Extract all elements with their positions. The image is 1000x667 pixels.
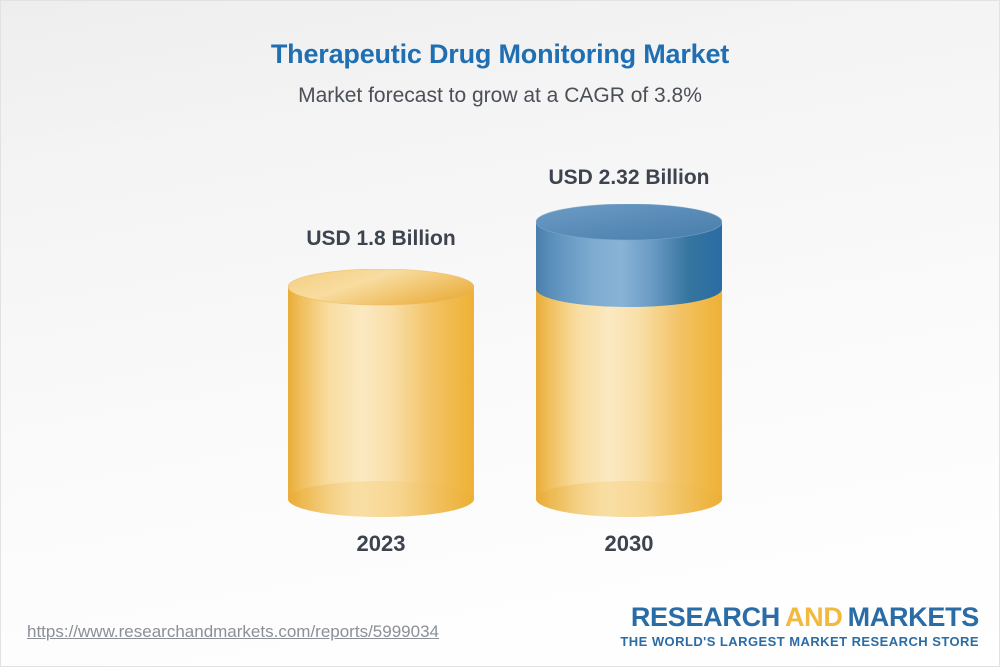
- cylinder-2030-graphic: [536, 204, 722, 517]
- bar-value-label-2023: USD 1.8 Billion: [266, 227, 496, 251]
- brand-logo-wordmark: RESEARCHANDMARKETS: [620, 602, 979, 632]
- cylinder-2023[interactable]: [288, 269, 474, 517]
- brand-word-research: RESEARCH: [631, 602, 780, 632]
- chart-canvas: Therapeutic Drug Monitoring Market Marke…: [0, 0, 1000, 667]
- brand-tagline: THE WORLD'S LARGEST MARKET RESEARCH STOR…: [620, 634, 979, 650]
- brand-word-and: AND: [785, 602, 843, 632]
- bar-value-label-2030: USD 2.32 Billion: [514, 166, 744, 190]
- chart-plot-area: USD 1.8 Billion: [1, 1, 1000, 667]
- axis-label-2030: 2030: [514, 531, 744, 557]
- axis-label-2023: 2023: [266, 531, 496, 557]
- brand-logo[interactable]: RESEARCHANDMARKETS THE WORLD'S LARGEST M…: [620, 602, 979, 650]
- source-url-link[interactable]: https://www.researchandmarkets.com/repor…: [27, 622, 439, 642]
- cylinder-2023-graphic: [288, 269, 474, 517]
- brand-word-markets: MARKETS: [848, 602, 979, 632]
- cylinder-2030[interactable]: [536, 204, 722, 517]
